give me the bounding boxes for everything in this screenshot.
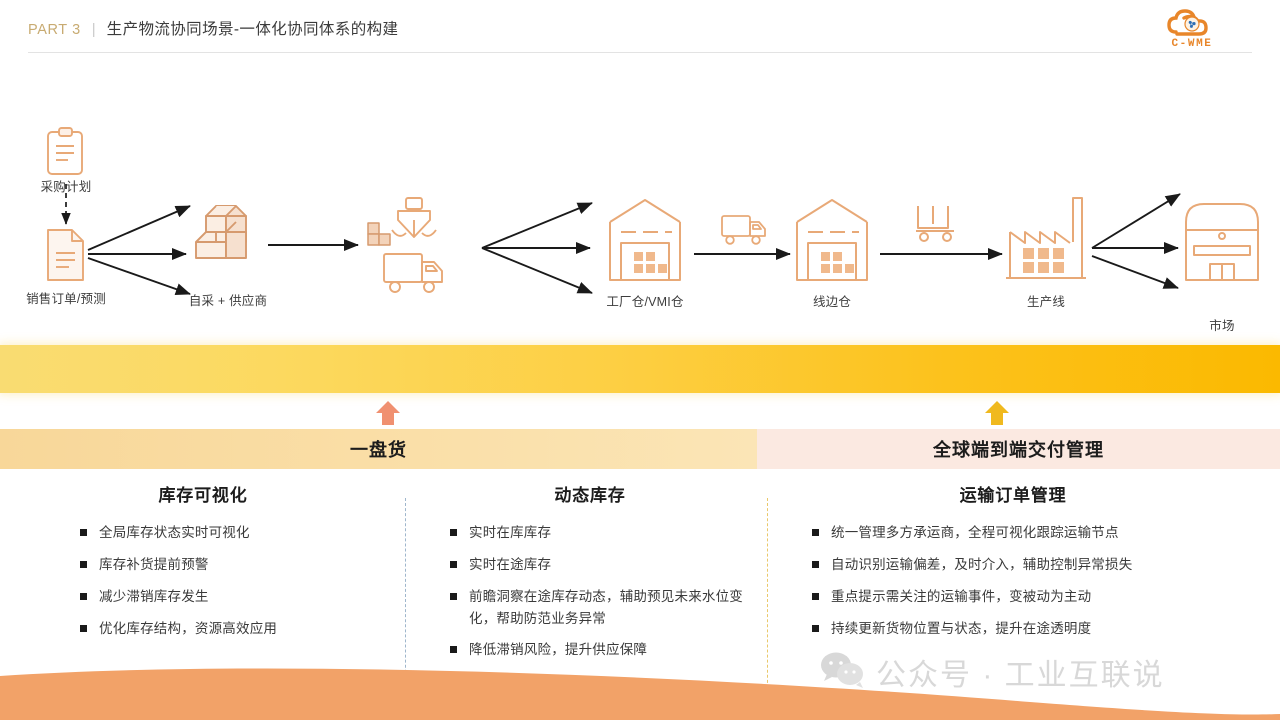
truck-icon bbox=[384, 254, 442, 292]
document-icon bbox=[48, 230, 83, 280]
title-separator: | bbox=[92, 21, 96, 38]
flow-label-sales-order: 销售订单/预测 bbox=[26, 288, 106, 307]
warehouse-icon-lineside bbox=[797, 200, 867, 280]
section-band-global-delivery: 全球端到端交付管理 bbox=[757, 429, 1280, 469]
column-transport-order-mgmt-bullets: 统一管理多方承运商，全程可视化跟踪运输节点 自动识别运输偏差，及时介入，辅助控制… bbox=[786, 522, 1266, 639]
flow-label-market: 市场 bbox=[1209, 315, 1234, 334]
column-inventory-visibility-bullets: 全局库存状态实时可视化 库存补货提前预警 减少滞销库存发生 优化库存结构，资源高… bbox=[14, 522, 400, 639]
up-arrow-global-delivery bbox=[984, 400, 1010, 426]
list-item-text: 降低滞销风险，提升供应保障 bbox=[469, 639, 766, 661]
column-dynamic-inventory: 动态库存 实时在库库存 实时在途库存 前瞻洞察在途库存动态，辅助预见未来水位变化… bbox=[418, 481, 766, 671]
list-item-text: 统一管理多方承运商，全程可视化跟踪运输节点 bbox=[831, 522, 1266, 544]
flow-arrow-transport-down bbox=[482, 248, 592, 293]
list-item: 库存补货提前预警 bbox=[80, 554, 400, 576]
boxes-icon bbox=[196, 206, 246, 258]
section-band-one-stock: 一盘货 bbox=[0, 429, 757, 469]
factory-icon bbox=[1006, 198, 1086, 278]
flow-label-line-side-wh: 线边仓 bbox=[813, 291, 851, 310]
list-item-text: 减少滞销库存发生 bbox=[99, 586, 400, 608]
list-item-text: 持续更新货物位置与状态，提升在途透明度 bbox=[831, 618, 1266, 640]
column-inventory-visibility: 库存可视化 全局库存状态实时可视化 库存补货提前预警 减少滞销库存发生 优化库存… bbox=[14, 481, 400, 649]
truck-icon-mid bbox=[722, 216, 765, 244]
ship-icon bbox=[392, 198, 436, 237]
bullet-square-icon bbox=[450, 561, 457, 568]
bullet-square-icon bbox=[80, 529, 87, 536]
bullet-square-icon bbox=[812, 593, 819, 600]
flow-label-production-line: 生产线 bbox=[1027, 291, 1065, 310]
header-divider bbox=[28, 52, 1252, 53]
highlight-banner bbox=[0, 345, 1280, 393]
supply-chain-flow-diagram: 采购计划 销售订单/预测 自采 + 供应商 工厂仓/VMI仓 线边仓 生产线 市… bbox=[0, 58, 1280, 340]
feature-columns: 库存可视化 全局库存状态实时可视化 库存补货提前预警 减少滞销库存发生 优化库存… bbox=[0, 481, 1280, 701]
flow-label-purchase-plan: 采购计划 bbox=[41, 176, 92, 195]
breadcrumb: PART 3 | 生产物流协同场景-一体化协同体系的构建 bbox=[28, 17, 398, 39]
list-item: 持续更新货物位置与状态，提升在途透明度 bbox=[812, 618, 1266, 640]
list-item: 自动识别运输偏差，及时介入，辅助控制异常损失 bbox=[812, 554, 1266, 576]
column-transport-order-mgmt-title: 运输订单管理 bbox=[786, 481, 1266, 506]
list-item: 实时在途库存 bbox=[450, 554, 766, 576]
flow-arrow-order-up bbox=[88, 206, 190, 250]
bullet-square-icon bbox=[80, 561, 87, 568]
part-label: PART 3 bbox=[28, 22, 81, 38]
list-item: 全局库存状态实时可视化 bbox=[80, 522, 400, 544]
list-item-text: 自动识别运输偏差，及时介入，辅助控制异常损失 bbox=[831, 554, 1266, 576]
list-item-text: 前瞻洞察在途库存动态，辅助预见未来水位变化，帮助防范业务异常 bbox=[469, 586, 766, 630]
slide-header: PART 3 | 生产物流协同场景-一体化协同体系的构建 bbox=[0, 0, 1280, 58]
page-title: 生产物流协同场景-一体化协同体系的构建 bbox=[107, 17, 399, 39]
list-item-text: 库存补货提前预警 bbox=[99, 554, 400, 576]
up-arrow-one-stock bbox=[375, 400, 401, 426]
list-item-text: 实时在途库存 bbox=[469, 554, 766, 576]
section-band-one-stock-title: 一盘货 bbox=[350, 436, 407, 462]
column-inventory-visibility-title: 库存可视化 bbox=[14, 481, 400, 506]
column-transport-order-mgmt: 运输订单管理 统一管理多方承运商，全程可视化跟踪运输节点 自动识别运输偏差，及时… bbox=[786, 481, 1266, 649]
bullet-square-icon bbox=[450, 593, 457, 600]
column-dynamic-inventory-bullets: 实时在库库存 实时在途库存 前瞻洞察在途库存动态，辅助预见未来水位变化，帮助防范… bbox=[418, 522, 766, 661]
bullet-square-icon bbox=[450, 529, 457, 536]
flow-label-supplier: 自采 + 供应商 bbox=[189, 290, 267, 309]
list-item: 前瞻洞察在途库存动态，辅助预见未来水位变化，帮助防范业务异常 bbox=[450, 586, 766, 630]
slide-root: PART 3 | 生产物流协同场景-一体化协同体系的构建 bbox=[0, 0, 1280, 720]
flow-arrow-line-down bbox=[1092, 256, 1178, 288]
list-item: 实时在库库存 bbox=[450, 522, 766, 544]
bullet-square-icon bbox=[812, 529, 819, 536]
pallet-boxes-icon bbox=[368, 223, 390, 245]
bullet-square-icon bbox=[812, 625, 819, 632]
cloud-logo: C-WME bbox=[1146, 6, 1238, 50]
clipboard-icon bbox=[48, 128, 82, 174]
bullet-square-icon bbox=[80, 593, 87, 600]
list-item: 减少滞销库存发生 bbox=[80, 586, 400, 608]
flow-arrow-transport-up bbox=[482, 203, 592, 248]
flow-label-factory-vmi: 工厂仓/VMI仓 bbox=[606, 291, 683, 310]
warehouse-icon bbox=[610, 200, 680, 280]
list-item: 降低滞销风险，提升供应保障 bbox=[450, 639, 766, 661]
list-item-text: 实时在库库存 bbox=[469, 522, 766, 544]
list-item-text: 全局库存状态实时可视化 bbox=[99, 522, 400, 544]
column-dynamic-inventory-title: 动态库存 bbox=[418, 481, 766, 506]
handcart-icon bbox=[916, 206, 954, 241]
list-item: 统一管理多方承运商，全程可视化跟踪运输节点 bbox=[812, 522, 1266, 544]
list-item-text: 重点提示需关注的运输事件，变被动为主动 bbox=[831, 586, 1266, 608]
list-item: 重点提示需关注的运输事件，变被动为主动 bbox=[812, 586, 1266, 608]
flow-arrow-line-up bbox=[1092, 194, 1180, 248]
bullet-square-icon bbox=[80, 625, 87, 632]
bullet-square-icon bbox=[450, 646, 457, 653]
store-icon bbox=[1186, 204, 1258, 280]
list-item: 优化库存结构，资源高效应用 bbox=[80, 618, 400, 640]
logo-text: C-WME bbox=[1171, 38, 1212, 50]
bullet-square-icon bbox=[812, 561, 819, 568]
list-item-text: 优化库存结构，资源高效应用 bbox=[99, 618, 400, 640]
section-band-global-delivery-title: 全球端到端交付管理 bbox=[933, 436, 1104, 462]
